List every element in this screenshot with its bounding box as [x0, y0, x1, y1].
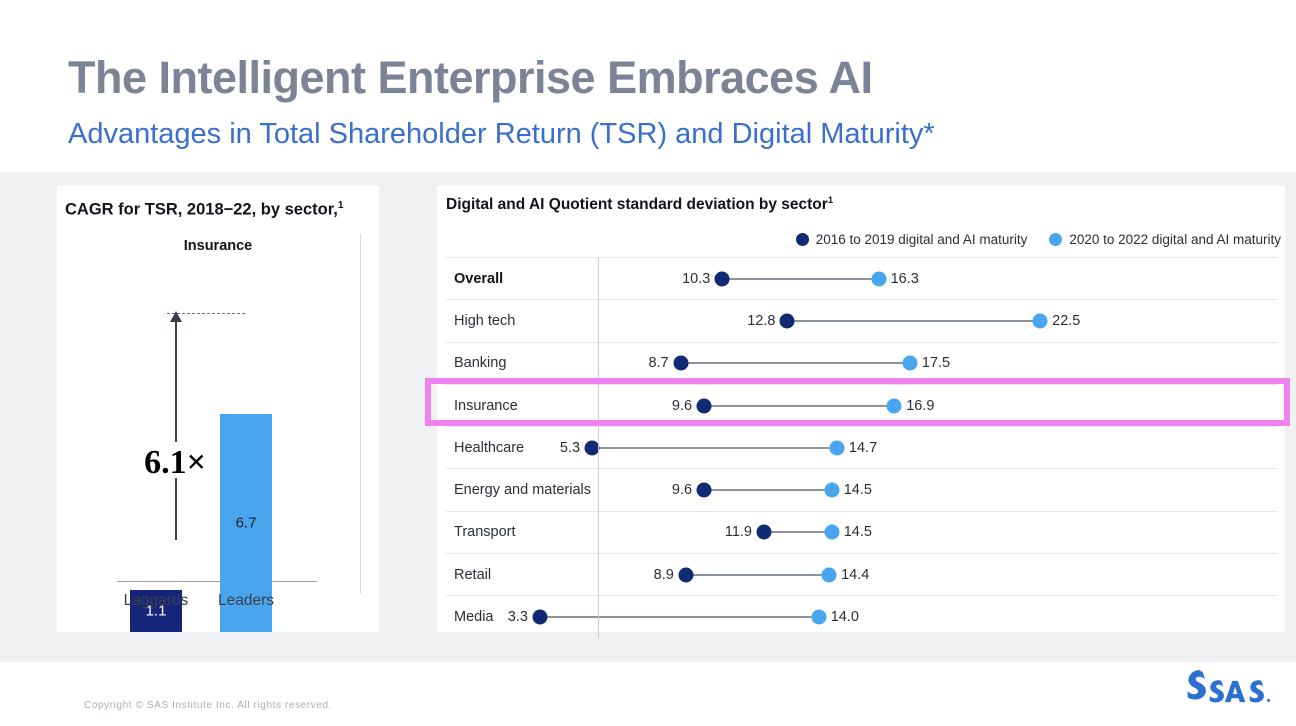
light-blue-dot-icon — [1033, 313, 1048, 328]
row-plot: 12.822.5 — [598, 300, 1278, 341]
row-plot: 10.316.3 — [598, 258, 1278, 299]
light-blue-dot-icon — [811, 610, 826, 625]
navy-dot-icon — [780, 313, 795, 328]
connector-line — [722, 278, 878, 280]
connector-line — [592, 447, 837, 449]
slide-header: The Intelligent Enterprise Embraces AI A… — [0, 0, 1296, 172]
light-blue-dot-icon — [887, 398, 902, 413]
end-value-label: 14.0 — [831, 609, 859, 625]
page-subtitle: Advantages in Total Shareholder Return (… — [68, 118, 935, 151]
connector-line — [686, 574, 829, 576]
light-blue-dot-icon — [871, 271, 886, 286]
navy-dot-icon — [697, 398, 712, 413]
row-plot: 3.314.0 — [598, 596, 1278, 637]
lift-arrow-lower-stem — [175, 478, 177, 540]
row-label-overall: Overall — [454, 271, 503, 287]
end-value-label: 14.7 — [849, 440, 877, 456]
connector-line — [764, 531, 832, 533]
row-plot: 8.914.4 — [598, 554, 1278, 595]
start-value-label: 11.9 — [725, 524, 752, 540]
label-column-divider — [598, 257, 599, 638]
page-title: The Intelligent Enterprise Embraces AI — [68, 52, 873, 104]
start-value-label: 3.3 — [508, 609, 528, 625]
start-value-label: 10.3 — [682, 271, 710, 287]
table-row[interactable]: Media3.314.0 — [446, 595, 1278, 637]
bar-category-leaders: Leaders — [191, 592, 301, 610]
start-value-label: 9.6 — [672, 482, 692, 498]
connector-line — [787, 320, 1040, 322]
left-card-footnote-marker: 1 — [338, 200, 344, 211]
row-plot: 9.614.5 — [598, 469, 1278, 510]
bar-chart-sector-label: Insurance — [57, 238, 379, 254]
sas-logo — [1184, 668, 1276, 704]
row-plot: 9.616.9 — [598, 385, 1278, 426]
end-value-label: 14.5 — [844, 482, 872, 498]
start-value-label: 9.6 — [672, 398, 692, 414]
row-label-energy-and-materials: Energy and materials — [454, 482, 591, 498]
navy-dot-icon — [678, 567, 693, 582]
light-blue-dot-icon — [824, 483, 839, 498]
connector-line — [704, 489, 832, 491]
right-card-footnote-marker: 1 — [828, 195, 833, 206]
row-plot: 5.314.7 — [598, 427, 1278, 468]
left-card-title-text: CAGR for TSR, 2018−22, by sector, — [65, 201, 338, 219]
right-card-title: Digital and AI Quotient standard deviati… — [446, 195, 833, 214]
right-card-title-text: Digital and AI Quotient standard deviati… — [446, 196, 828, 213]
start-value-label: 8.7 — [648, 355, 668, 371]
up-arrow-icon — [170, 311, 182, 322]
end-value-label: 14.4 — [841, 567, 869, 583]
connector-line — [540, 616, 819, 618]
dumbbell-chart-card: Digital and AI Quotient standard deviati… — [437, 186, 1285, 632]
navy-dot-icon — [673, 356, 688, 371]
end-value-label: 16.3 — [891, 271, 919, 287]
tsr-bar-chart-card: CAGR for TSR, 2018−22, by sector,1 Insur… — [57, 186, 379, 632]
row-label-insurance: Insurance — [454, 398, 518, 414]
bar-chart-baseline — [117, 581, 317, 582]
legend-entry-2020-2022: 2020 to 2022 digital and AI maturity — [1049, 232, 1281, 247]
table-row[interactable]: Insurance9.616.9 — [446, 384, 1278, 426]
copyright-text: Copyright © SAS Institute Inc. All right… — [84, 700, 332, 711]
row-label-healthcare: Healthcare — [454, 440, 524, 456]
row-label-transport: Transport — [454, 524, 516, 540]
end-value-label: 14.5 — [844, 524, 872, 540]
legend-entry-2016-2019: 2016 to 2019 digital and AI maturity — [796, 232, 1028, 247]
end-value-label: 22.5 — [1052, 313, 1080, 329]
navy-dot-icon — [796, 233, 809, 246]
bar-chart-plot-area: 1.1 6.7 6.1× Laggards Leaders — [57, 258, 379, 632]
dumbbell-rows: Overall10.316.3High tech12.822.5Banking8… — [446, 257, 1278, 638]
navy-dot-icon — [756, 525, 771, 540]
table-row[interactable]: Energy and materials9.614.5 — [446, 468, 1278, 510]
table-row[interactable]: Healthcare5.314.7 — [446, 426, 1278, 468]
table-row[interactable]: High tech12.822.5 — [446, 299, 1278, 341]
navy-dot-icon — [697, 483, 712, 498]
connector-line — [681, 362, 910, 364]
legend-label-2016-2019: 2016 to 2019 digital and AI maturity — [816, 232, 1028, 247]
end-value-label: 16.9 — [906, 398, 934, 414]
bar-leaders-value: 6.7 — [236, 515, 257, 532]
row-plot: 8.717.5 — [598, 343, 1278, 384]
start-value-label: 5.3 — [560, 440, 580, 456]
row-plot: 11.914.5 — [598, 512, 1278, 553]
light-blue-dot-icon — [824, 525, 839, 540]
light-blue-dot-icon — [822, 567, 837, 582]
row-label-banking: Banking — [454, 355, 506, 371]
left-card-title: CAGR for TSR, 2018−22, by sector,1 — [65, 200, 343, 220]
start-value-label: 8.9 — [654, 567, 674, 583]
light-blue-dot-icon — [829, 440, 844, 455]
table-row[interactable]: Retail8.914.4 — [446, 553, 1278, 595]
connector-line — [704, 405, 894, 407]
lift-arrow-shaft — [175, 316, 177, 442]
navy-dot-icon — [532, 610, 547, 625]
lift-multiplier-label: 6.1× — [95, 444, 255, 482]
left-card-divider — [360, 234, 361, 594]
table-row[interactable]: Overall10.316.3 — [446, 257, 1278, 299]
row-label-high-tech: High tech — [454, 313, 515, 329]
navy-dot-icon — [715, 271, 730, 286]
table-row[interactable]: Banking8.717.5 — [446, 342, 1278, 384]
start-value-label: 12.8 — [747, 313, 775, 329]
row-label-media: Media — [454, 609, 494, 625]
light-blue-dot-icon — [1049, 233, 1062, 246]
chart-legend: 2016 to 2019 digital and AI maturity 202… — [796, 232, 1281, 247]
table-row[interactable]: Transport11.914.5 — [446, 511, 1278, 553]
legend-label-2020-2022: 2020 to 2022 digital and AI maturity — [1069, 232, 1281, 247]
end-value-label: 17.5 — [922, 355, 950, 371]
row-label-retail: Retail — [454, 567, 491, 583]
light-blue-dot-icon — [902, 356, 917, 371]
